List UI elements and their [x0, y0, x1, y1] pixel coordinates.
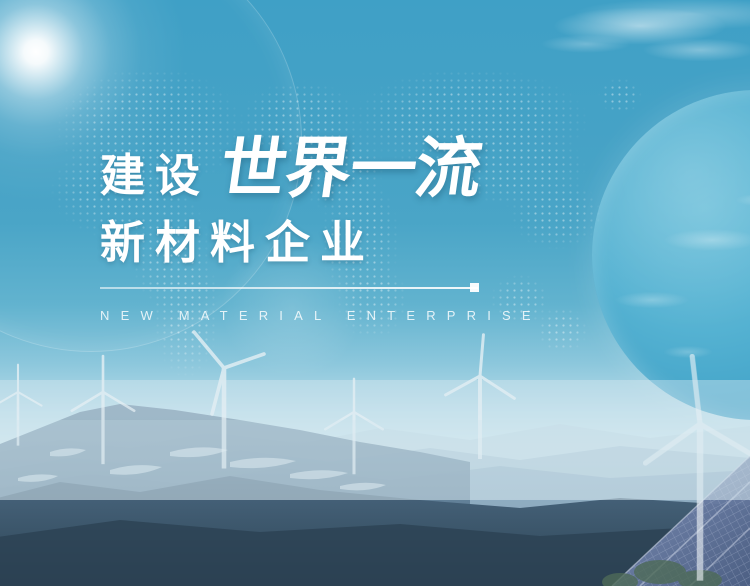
divider-end-cap [470, 283, 479, 292]
headline-line-1: 建设 世界一流 [100, 136, 700, 210]
headline-block: 建设 世界一流 新材料企业 NEW MATERIAL ENTERPRISE [100, 136, 700, 323]
hero-banner: 建设 世界一流 新材料企业 NEW MATERIAL ENTERPRISE [0, 0, 750, 586]
headline-line-2: 新材料企业 [100, 220, 700, 265]
headline-divider [100, 287, 478, 289]
headline-emphasis: 世界一流 [216, 136, 485, 202]
headline-prefix: 建设 [100, 153, 210, 198]
headline-subtitle: NEW MATERIAL ENTERPRISE [100, 308, 700, 323]
